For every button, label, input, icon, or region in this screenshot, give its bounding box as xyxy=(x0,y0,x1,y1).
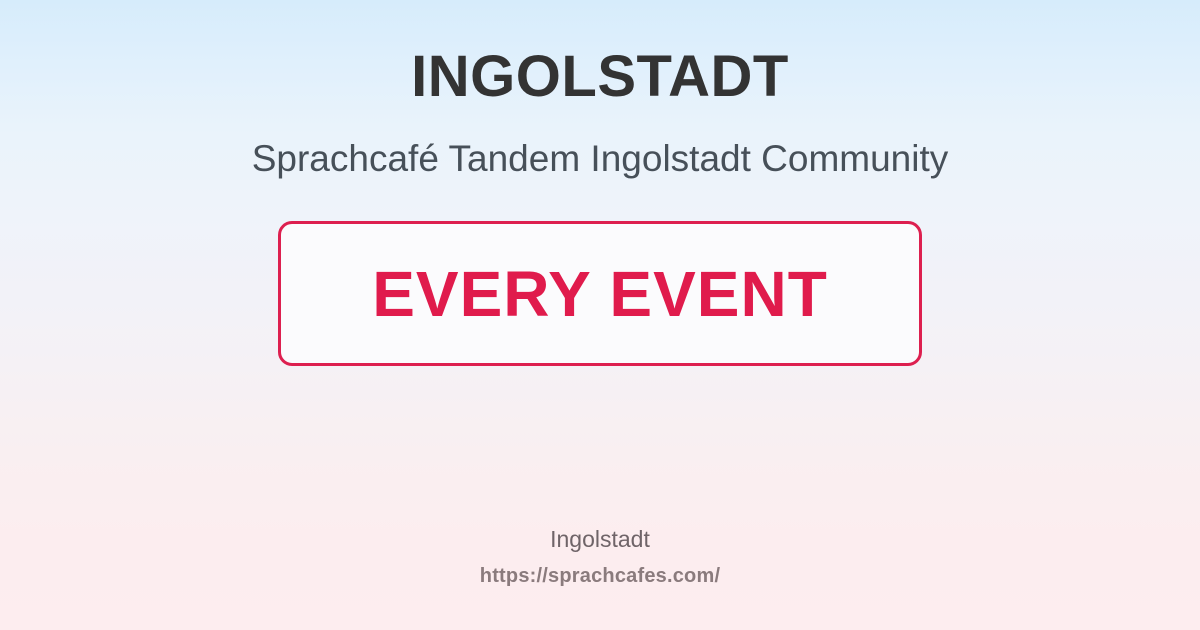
og-card: INGOLSTADT Sprachcafé Tandem Ingolstadt … xyxy=(0,0,1200,630)
footer-location: Ingolstadt xyxy=(0,525,1200,554)
card-footer: Ingolstadt https://sprachcafes.com/ xyxy=(0,525,1200,589)
every-event-badge-label: EVERY EVENT xyxy=(372,262,828,326)
page-title: INGOLSTADT xyxy=(0,48,1200,106)
page-subtitle: Sprachcafé Tandem Ingolstadt Community xyxy=(0,140,1200,177)
footer-website-url: https://sprachcafes.com/ xyxy=(0,564,1200,589)
every-event-badge: EVERY EVENT xyxy=(278,221,922,366)
